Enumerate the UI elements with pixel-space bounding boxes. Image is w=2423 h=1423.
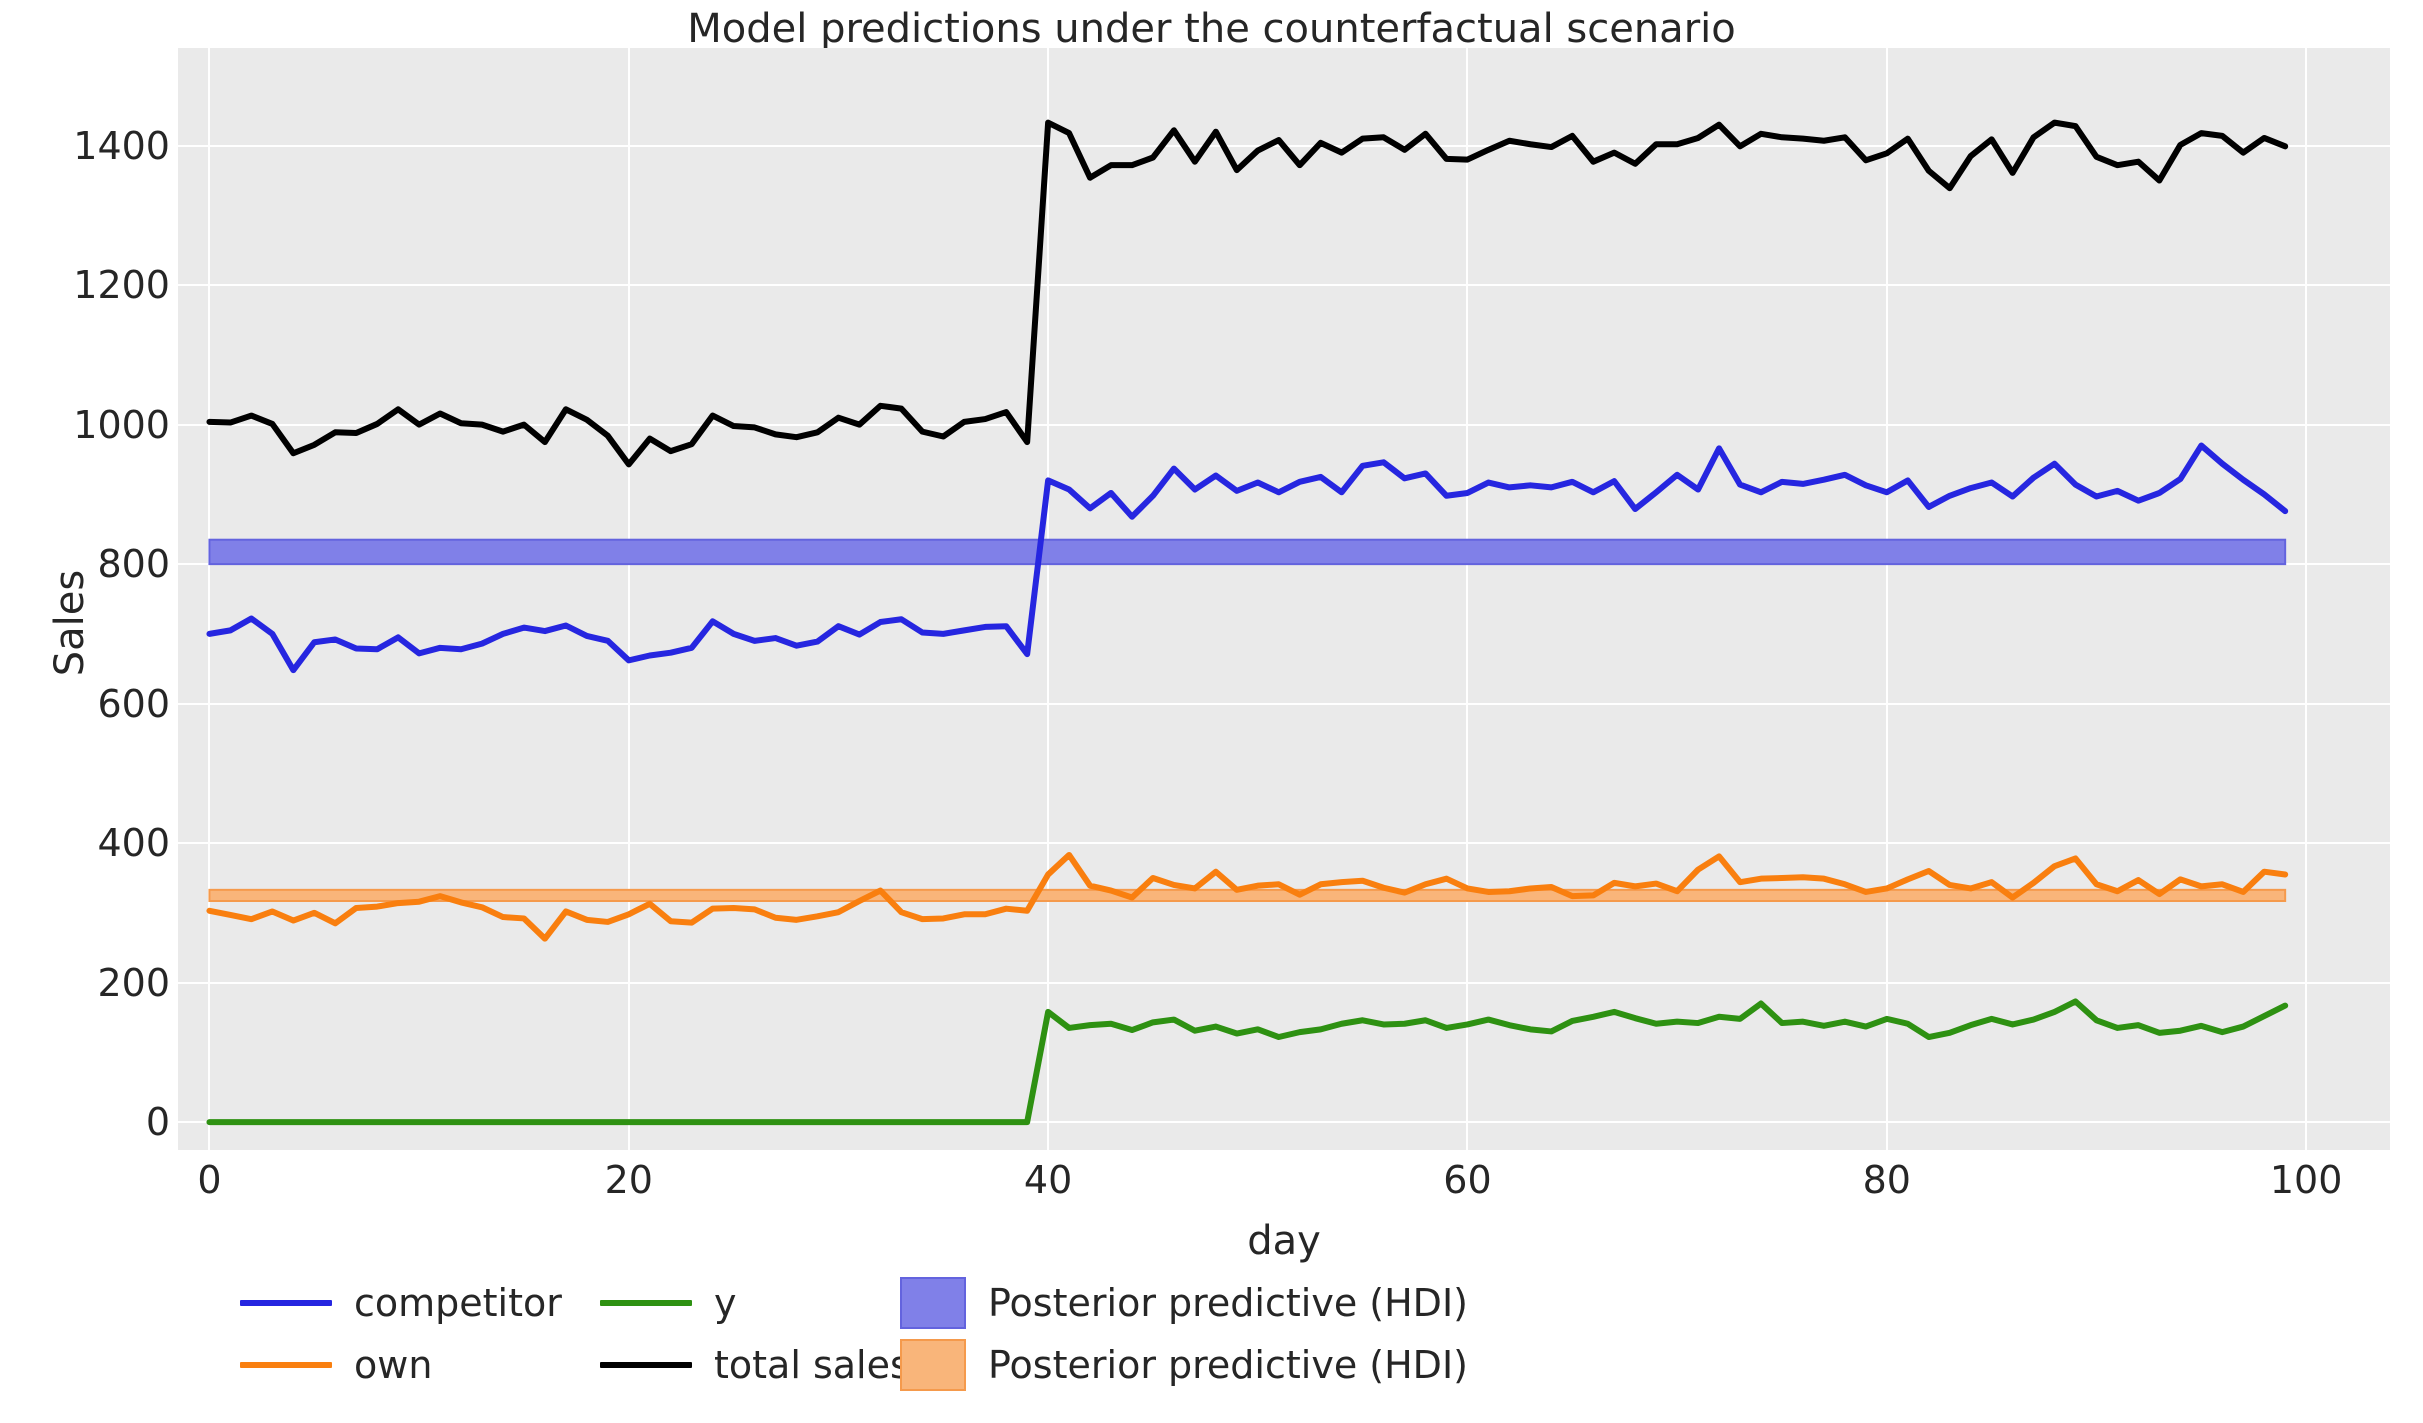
legend-item-own[interactable]: own: [240, 1337, 600, 1393]
chart-figure: Model predictions under the counterfactu…: [0, 0, 2423, 1423]
legend-item-total-sales[interactable]: total sales: [600, 1337, 900, 1393]
x-tick-label: 80: [1863, 1158, 1911, 1202]
legend-line-swatch: [600, 1300, 692, 1306]
x-tick-label: 100: [2270, 1158, 2343, 1202]
series-line-y: [209, 1001, 2285, 1122]
y-tick-label: 1400: [73, 124, 170, 168]
chart-legend: competitorownytotal salesPosterior predi…: [240, 1272, 2390, 1396]
legend-label: own: [354, 1343, 432, 1387]
x-tick-label: 60: [1443, 1158, 1491, 1202]
legend-label: y: [714, 1281, 737, 1325]
series-layer: [178, 48, 2390, 1150]
legend-patch-swatch: [900, 1277, 966, 1329]
legend-line-swatch: [600, 1362, 692, 1368]
legend-patch-swatch: [900, 1339, 966, 1391]
y-tick-label: 800: [97, 542, 170, 586]
y-tick-label: 400: [97, 821, 170, 865]
y-tick-label: 0: [146, 1100, 170, 1144]
y-tick-label: 1000: [73, 403, 170, 447]
legend-line-swatch: [240, 1300, 332, 1306]
y-tick-label: 200: [97, 961, 170, 1005]
x-tick-label: 0: [197, 1158, 221, 1202]
legend-item-posterior-predictive-hdi[interactable]: Posterior predictive (HDI): [900, 1337, 1600, 1393]
x-axis-label: day: [178, 1218, 2390, 1264]
x-tick-label: 20: [605, 1158, 653, 1202]
hdi-bands: [209, 540, 2285, 901]
legend-line-swatch: [240, 1362, 332, 1368]
x-tick-label: 40: [1024, 1158, 1072, 1202]
y-tick-label: 1200: [73, 263, 170, 307]
y-axis-label: Sales: [47, 543, 93, 703]
legend-item-posterior-predictive-hdi[interactable]: Posterior predictive (HDI): [900, 1275, 1600, 1331]
legend-item-competitor[interactable]: competitor: [240, 1275, 600, 1331]
hdi-band-own: [209, 890, 2285, 901]
series-lines: [209, 123, 2285, 1122]
hdi-band-competitor: [209, 540, 2285, 564]
chart-title: Model predictions under the counterfactu…: [0, 6, 2423, 52]
y-tick-label: 600: [97, 682, 170, 726]
series-line-total-sales: [209, 123, 2285, 465]
legend-label: Posterior predictive (HDI): [988, 1281, 1468, 1325]
legend-label: competitor: [354, 1281, 562, 1325]
plot-area: [178, 48, 2390, 1150]
legend-label: Posterior predictive (HDI): [988, 1343, 1468, 1387]
legend-item-y[interactable]: y: [600, 1275, 900, 1331]
legend-label: total sales: [714, 1343, 910, 1387]
